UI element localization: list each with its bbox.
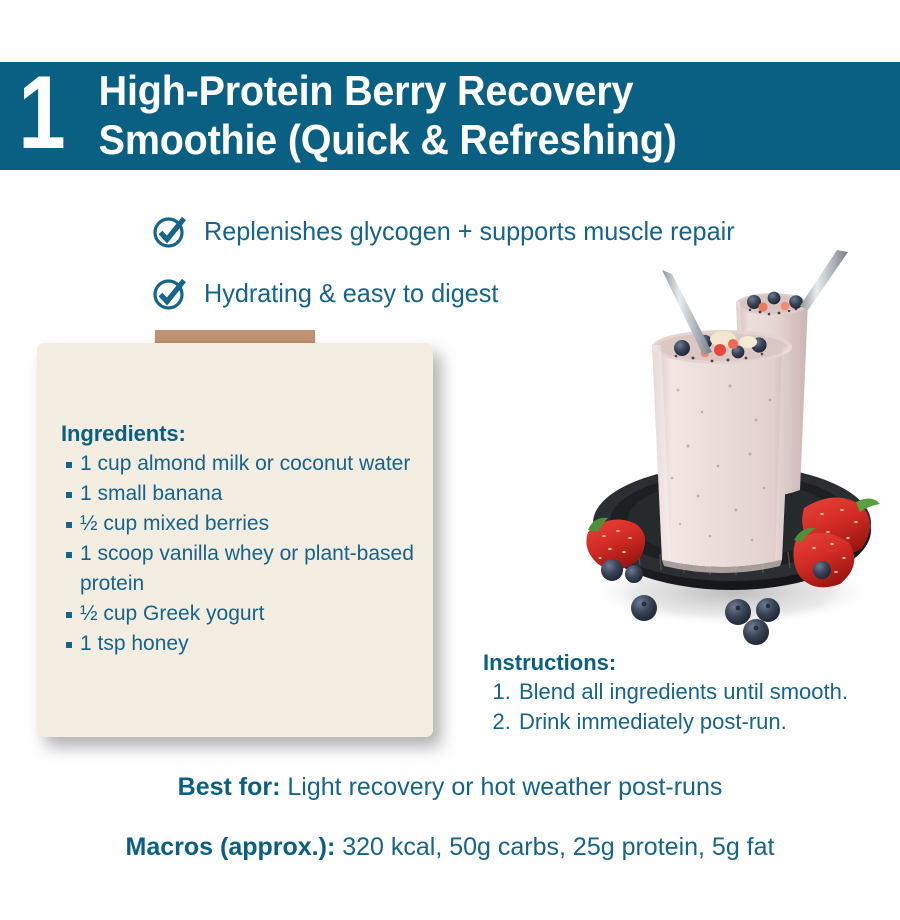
macros-value: 320 kcal, 50g carbs, 25g protein, 5g fat bbox=[342, 833, 774, 861]
ingredient-item: 1 small banana bbox=[61, 479, 433, 509]
header: 1 High-Protein Berry Recovery Smoothie (… bbox=[0, 62, 900, 170]
ingredient-item: 1 tsp honey bbox=[61, 629, 433, 659]
smoothie-photo bbox=[560, 240, 900, 650]
blueberry bbox=[813, 561, 831, 579]
title-line-2: Smoothie (Quick & Refreshing) bbox=[99, 115, 851, 164]
circle-check-icon bbox=[150, 211, 190, 251]
instruction-step: Drink immediately post-run. bbox=[517, 707, 893, 737]
ingredients-card: Ingredients: 1 cup almond milk or coconu… bbox=[37, 343, 433, 737]
blueberry bbox=[725, 599, 751, 625]
title-line-1: High-Protein Berry Recovery bbox=[99, 67, 634, 114]
page-title: High-Protein Berry Recovery Smoothie (Qu… bbox=[78, 62, 851, 164]
best-for-line: Best for: Light recovery or hot weather … bbox=[0, 770, 900, 804]
recipe-number-badge: 1 bbox=[0, 62, 78, 170]
recipe-number: 1 bbox=[18, 71, 65, 156]
best-for-value: Light recovery or hot weather post-runs bbox=[287, 773, 722, 801]
instructions-list: Blend all ingredients until smooth. Drin… bbox=[483, 677, 893, 737]
blueberry bbox=[631, 595, 657, 621]
circle-check-icon bbox=[150, 273, 190, 313]
ingredient-item: ½ cup Greek yogurt bbox=[61, 599, 433, 629]
header-band: High-Protein Berry Recovery Smoothie (Qu… bbox=[78, 62, 900, 170]
macros-line: Macros (approx.): 320 kcal, 50g carbs, 2… bbox=[0, 830, 900, 864]
blueberry bbox=[625, 565, 643, 583]
ingredient-item: 1 cup almond milk or coconut water bbox=[61, 449, 433, 479]
instruction-step: Blend all ingredients until smooth. bbox=[517, 677, 893, 707]
ingredients-list: 1 cup almond milk or coconut water 1 sma… bbox=[61, 449, 433, 659]
instructions-section: Instructions: Blend all ingredients unti… bbox=[483, 650, 893, 737]
recipe-card: 1 High-Protein Berry Recovery Smoothie (… bbox=[0, 0, 900, 920]
instructions-title: Instructions: bbox=[483, 650, 893, 676]
footer: Best for: Light recovery or hot weather … bbox=[0, 770, 900, 864]
blueberry bbox=[743, 619, 769, 645]
benefit-label: Hydrating & easy to digest bbox=[204, 278, 498, 309]
ingredients-title: Ingredients: bbox=[61, 421, 433, 447]
ingredient-item: 1 scoop vanilla whey or plant-based prot… bbox=[61, 539, 433, 599]
best-for-label: Best for: bbox=[178, 773, 281, 801]
blueberry bbox=[756, 598, 780, 622]
macros-label: Macros (approx.): bbox=[126, 833, 336, 861]
blueberry bbox=[601, 559, 623, 581]
ingredient-item: ½ cup mixed berries bbox=[61, 509, 433, 539]
